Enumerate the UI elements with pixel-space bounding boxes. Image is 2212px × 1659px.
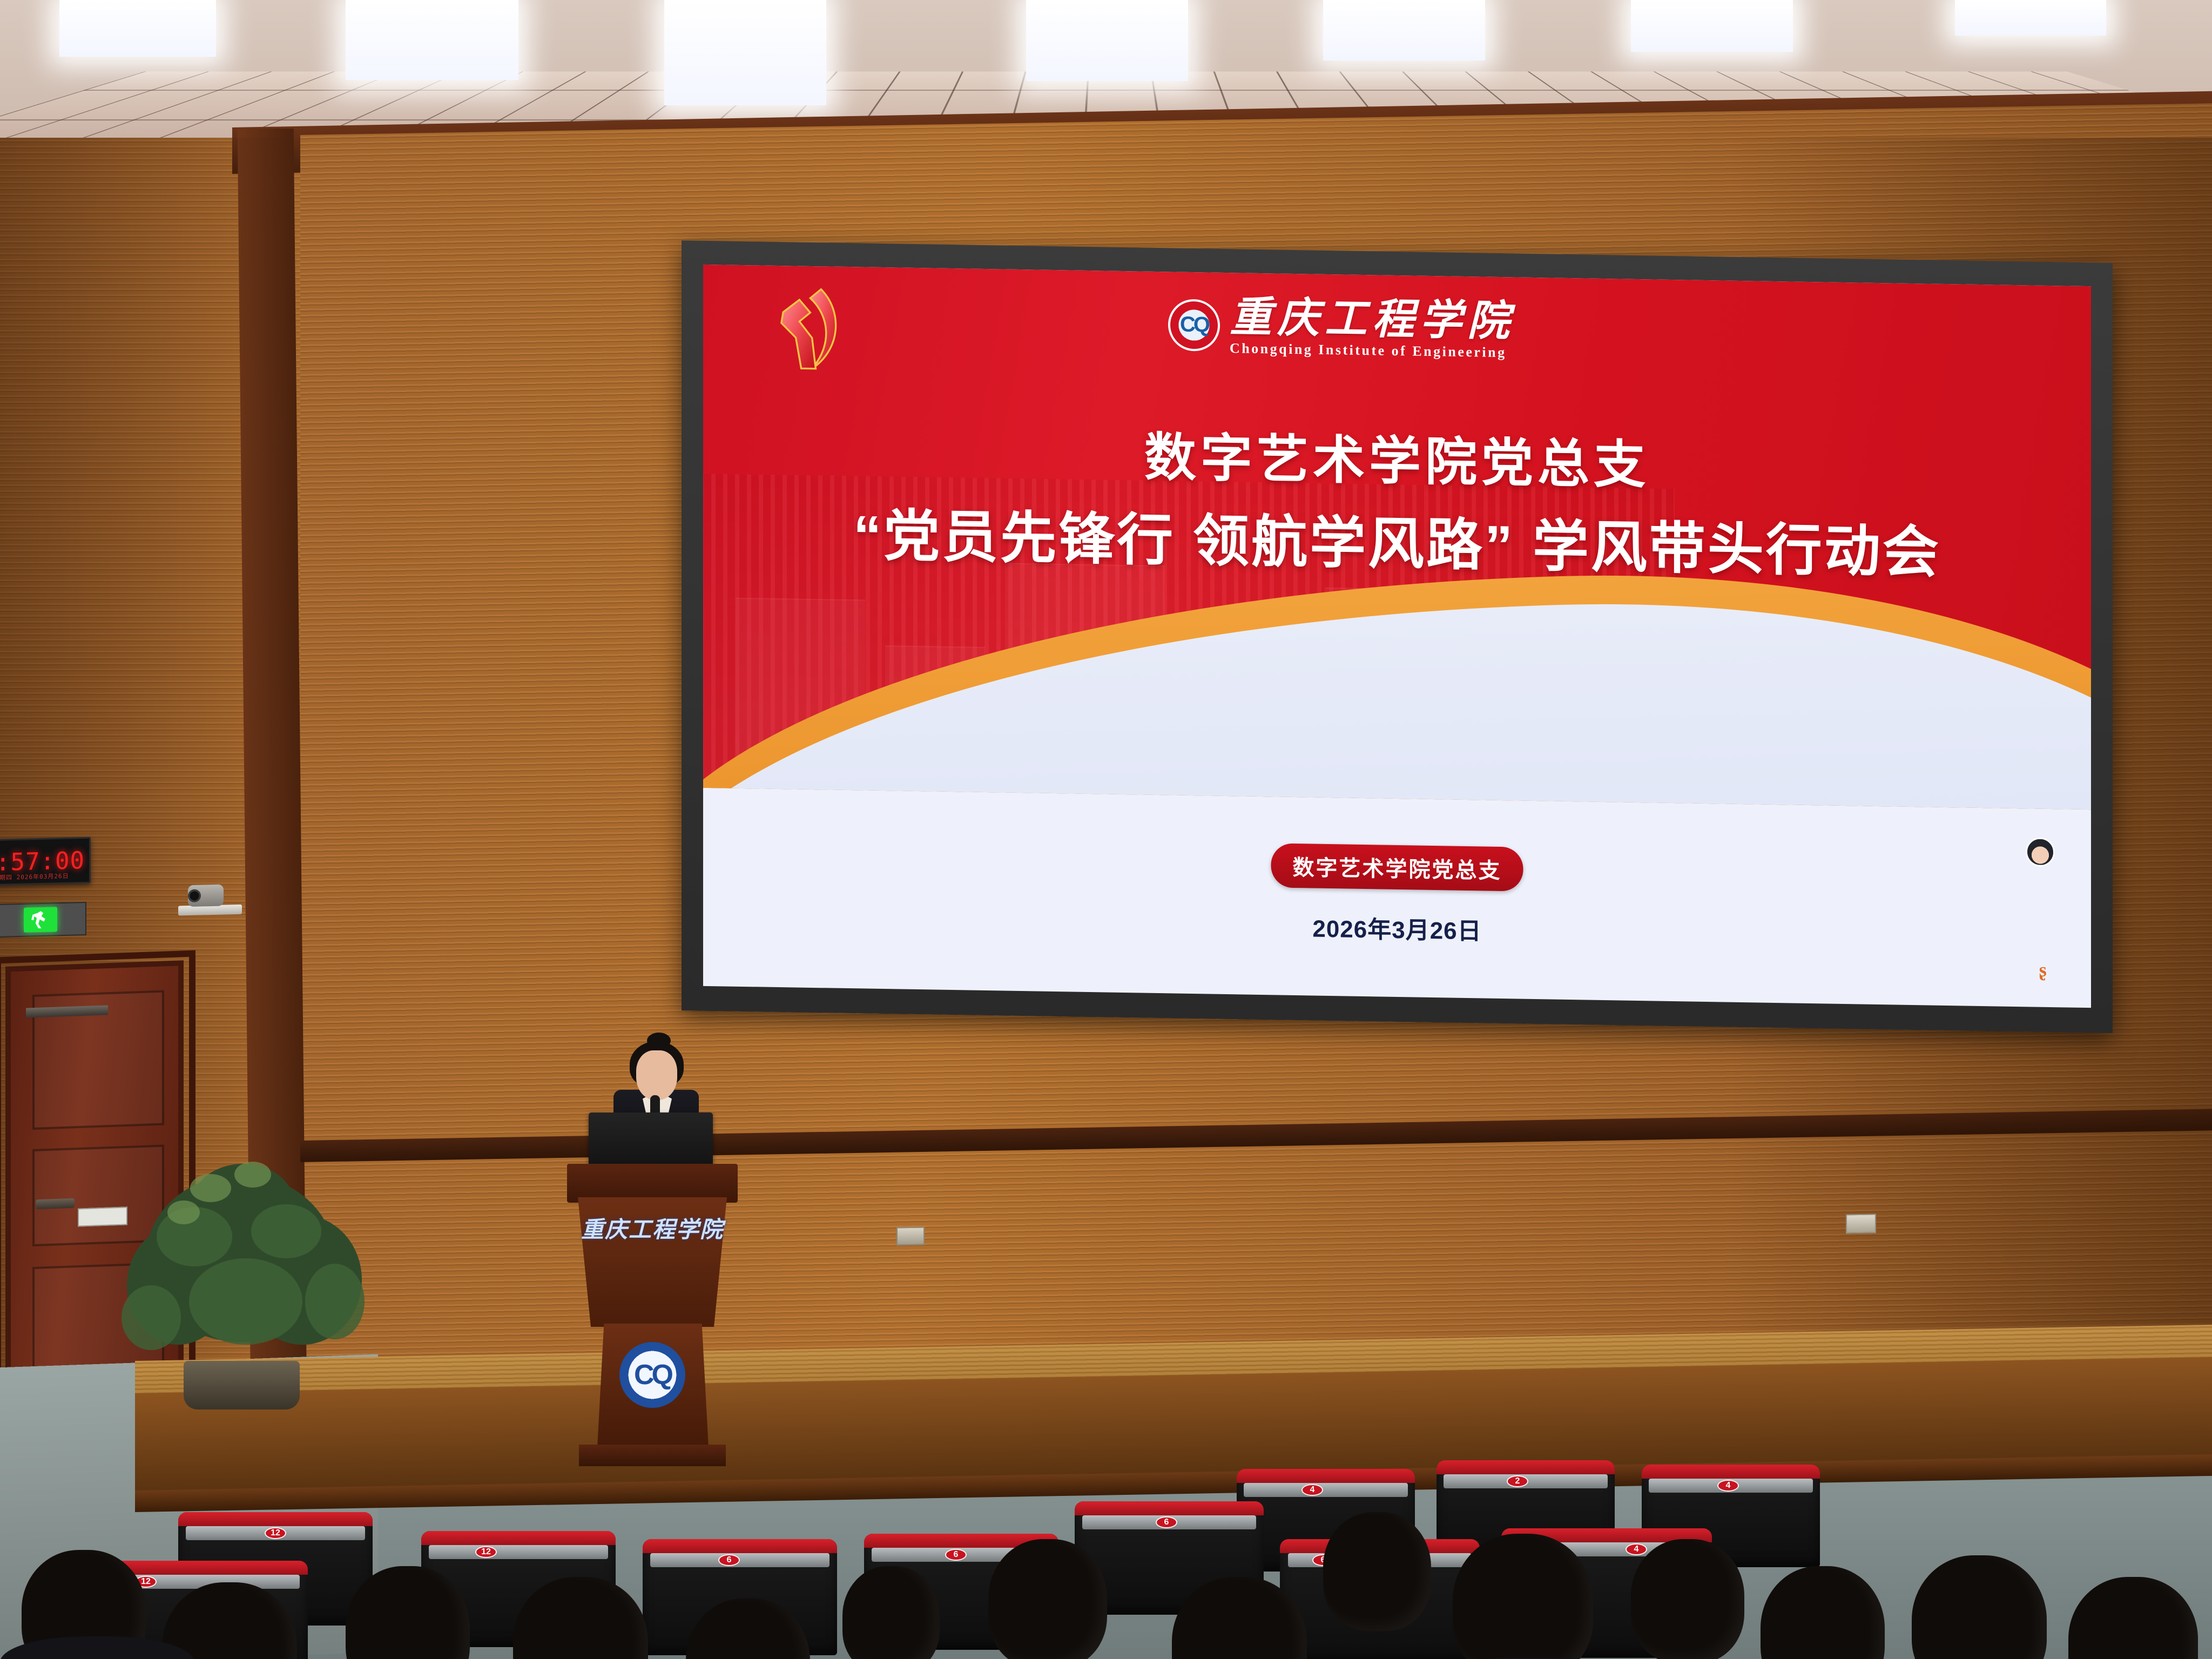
corner-brand-glyph: ʂ	[2039, 959, 2047, 981]
university-logo-lockup: CQ 重庆工程学院 Chongqing Institute of Enginee…	[1168, 295, 1515, 360]
university-name-en: Chongqing Institute of Engineering	[1230, 341, 1515, 360]
seat-headrest	[1642, 1465, 1820, 1479]
podium-university-text: 重庆工程学院	[571, 1211, 733, 1244]
slide-red-band: CQ 重庆工程学院 Chongqing Institute of Enginee…	[703, 265, 2091, 810]
ceiling-light-1	[59, 0, 216, 57]
seat-number-badge: 6	[1156, 1516, 1177, 1528]
audience-head	[842, 1566, 940, 1659]
ceiling-light-7	[1955, 0, 2106, 36]
wall-outlet-right	[1846, 1214, 1876, 1234]
podium-top	[567, 1164, 738, 1203]
seat-number-badge: 12	[265, 1527, 286, 1539]
seat-number-badge: 2	[1507, 1475, 1528, 1487]
podium-emblem-icon: CQ	[619, 1342, 685, 1408]
seat-headrest	[643, 1539, 837, 1553]
audience-head	[988, 1539, 1107, 1659]
seat-headrest	[1075, 1501, 1264, 1515]
surveillance-camera-icon	[178, 884, 248, 916]
audience-area: 4 2 4 6 6 4	[0, 1404, 2212, 1659]
slide-org-badge: 数字艺术学院党总支	[1271, 844, 1523, 892]
digital-wall-clock: 2:57:00 星期四 2026年03月26日	[0, 837, 91, 886]
audience-head	[1453, 1534, 1593, 1659]
seat-number-badge: 4	[1301, 1484, 1323, 1496]
hammer-and-sickle-emblem	[753, 281, 867, 382]
door-handle[interactable]	[36, 1198, 75, 1210]
audience-head	[1761, 1566, 1885, 1659]
seat-rail	[1244, 1483, 1408, 1497]
ceiling-light-6	[1631, 0, 1793, 52]
seat-number-badge: 4	[1626, 1543, 1647, 1555]
led-screen-bezel: CQ 重庆工程学院 Chongqing Institute of Enginee…	[682, 240, 2113, 1033]
university-seal-text: CQ	[1180, 313, 1208, 338]
plant-foliage-icon	[113, 1123, 373, 1377]
seat-rail	[429, 1545, 608, 1559]
podium-emblem-text: CQ	[634, 1359, 671, 1391]
ceiling-light-5	[1323, 0, 1485, 60]
audience-head	[2068, 1577, 2198, 1659]
university-seal-icon: CQ	[1168, 299, 1220, 352]
presentation-slide[interactable]: CQ 重庆工程学院 Chongqing Institute of Enginee…	[703, 265, 2091, 1008]
clock-date-display: 星期四 2026年03月26日	[0, 872, 69, 882]
ceiling-light-2	[346, 0, 518, 80]
seat-number-badge: 4	[1717, 1480, 1739, 1492]
speaker-head	[636, 1050, 677, 1100]
audience-head	[1631, 1539, 1744, 1659]
seat-number-badge: 12	[475, 1546, 497, 1558]
auditorium-scene: CQ 重庆工程学院 Chongqing Institute of Enginee…	[0, 0, 2212, 1659]
ceiling-light-3	[664, 0, 826, 105]
seat-number-badge: 6	[945, 1549, 967, 1561]
audience-head	[1912, 1555, 2047, 1659]
ceiling-light-4	[1026, 0, 1188, 81]
slide-date: 2026年3月26日	[1312, 909, 1481, 946]
running-man-exit-icon	[24, 907, 57, 933]
speaker-hair-bun	[647, 1033, 671, 1049]
wall-outlet-left	[896, 1227, 925, 1246]
seat-number-badge: 6	[718, 1554, 740, 1566]
seat-headrest	[1237, 1469, 1415, 1483]
university-name-cn: 重庆工程学院	[1230, 296, 1515, 342]
seat-headrest	[178, 1512, 373, 1526]
seat-headrest	[1437, 1460, 1615, 1474]
profile-avatar-icon	[2026, 837, 2055, 867]
emergency-exit-sign	[0, 902, 86, 938]
audience-head	[1323, 1512, 1431, 1631]
potted-plant	[113, 1123, 373, 1410]
university-name-block: 重庆工程学院 Chongqing Institute of Engineerin…	[1230, 296, 1515, 360]
seat-headrest	[421, 1531, 616, 1545]
